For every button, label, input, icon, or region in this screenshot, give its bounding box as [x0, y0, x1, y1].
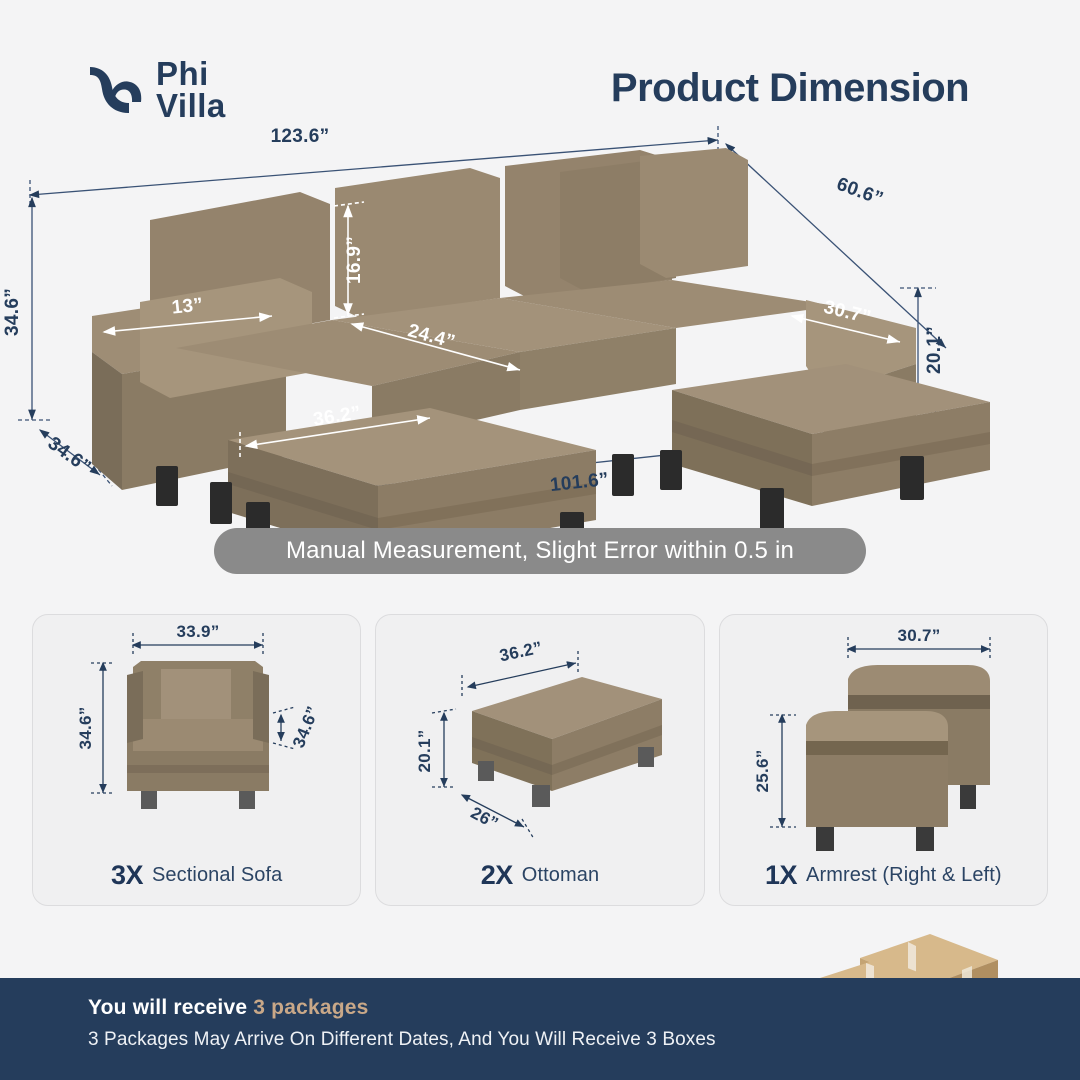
measurement-note: Manual Measurement, Slight Error within …: [214, 528, 866, 574]
card3-qty: 1X: [765, 860, 797, 891]
dim-overall-height: 34.6”: [2, 288, 23, 336]
dim-side-depth: 34.6”: [44, 433, 95, 478]
card-caption-sectional-sofa: 3X Sectional Sofa: [33, 853, 360, 905]
footer-headline-prefix: You will receive: [88, 996, 253, 1019]
card-caption-ottoman: 2X Ottoman: [376, 853, 703, 905]
dim-armrest-width: 13”: [171, 294, 205, 318]
dim-overall-depth: 60.6”: [834, 174, 886, 210]
card-figure-ottoman: 36.2” 20.1” 26”: [376, 615, 703, 853]
footer-text: You will receive 3 packages 3 Packages M…: [88, 996, 716, 1051]
sofa-dimension-drawing: 123.6” 60.6” 34.6” 34.6” 16.9” 24.4” 13”…: [0, 120, 1080, 540]
card-caption-armrest: 1X Armrest (Right & Left): [720, 853, 1047, 905]
package-contents-cards: 33.9” 34.6” 34.6” 3X Sectional Sofa: [32, 614, 1048, 906]
card1-name: Sectional Sofa: [152, 864, 282, 887]
brand-logo: Phi Villa: [84, 58, 226, 121]
card-ottoman: 36.2” 20.1” 26” 2X Ottoman: [375, 614, 704, 906]
card1-dim-depth: 34.6”: [289, 703, 323, 750]
footer-banner: You will receive 3 packages 3 Packages M…: [0, 978, 1080, 1080]
card2-qty: 2X: [481, 860, 513, 891]
brand-wordmark: Phi Villa: [156, 58, 226, 121]
footer-headline: You will receive 3 packages: [88, 996, 716, 1020]
brand-name-line1: Phi: [156, 58, 226, 90]
armrest-icon: 30.7” 25.6”: [720, 615, 1050, 853]
footer-headline-accent: 3 packages: [253, 996, 368, 1019]
card-armrest: 30.7” 25.6” 1X Armrest (Right & Left): [719, 614, 1048, 906]
dim-back-cushion-height: 16.9”: [344, 236, 365, 284]
card-sectional-sofa: 33.9” 34.6” 34.6” 3X Sectional Sofa: [32, 614, 361, 906]
card2-dim-depth: 26”: [468, 803, 502, 833]
card2-name: Ottoman: [522, 864, 599, 887]
card-figure-sectional-sofa: 33.9” 34.6” 34.6”: [33, 615, 360, 853]
card2-dim-height: 20.1”: [415, 729, 434, 772]
card-figure-armrest: 30.7” 25.6”: [720, 615, 1047, 853]
footer-subtext: 3 Packages May Arrive On Different Dates…: [88, 1029, 716, 1051]
card1-qty: 3X: [111, 860, 143, 891]
card3-dim-width: 30.7”: [897, 626, 940, 645]
sectional-sofa-icon: 33.9” 34.6” 34.6”: [33, 615, 363, 853]
card1-dim-width: 33.9”: [176, 622, 219, 641]
card3-dim-height: 25.6”: [753, 749, 772, 792]
card2-dim-width: 36.2”: [498, 638, 544, 666]
brand-name-line2: Villa: [156, 90, 226, 122]
dim-overall-width: 123.6”: [271, 126, 330, 147]
phivilla-bird-icon: [84, 61, 146, 119]
ottoman-icon: 36.2” 20.1” 26”: [376, 615, 706, 853]
card3-name: Armrest (Right & Left): [806, 864, 1002, 887]
dim-ottoman-height: 20.1”: [924, 326, 945, 374]
hero-product-diagram: 123.6” 60.6” 34.6” 34.6” 16.9” 24.4” 13”…: [0, 120, 1080, 540]
page-title: Product Dimension: [560, 66, 1020, 111]
card1-dim-height: 34.6”: [76, 706, 95, 749]
